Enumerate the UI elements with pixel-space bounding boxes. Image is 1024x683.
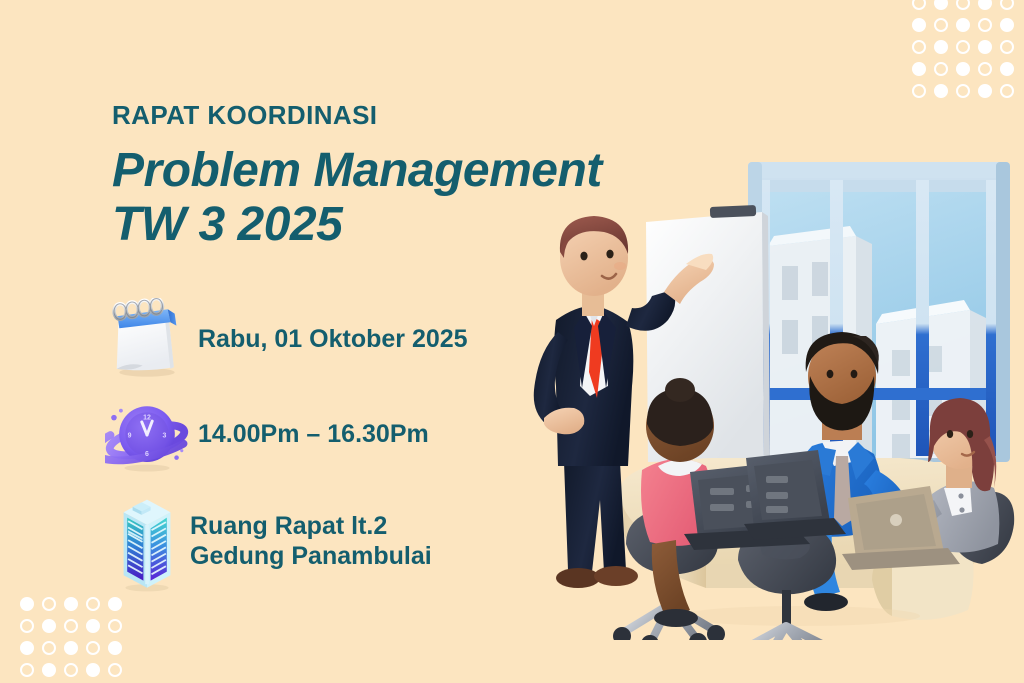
dot — [956, 84, 970, 98]
dot — [934, 18, 948, 32]
dot — [86, 641, 100, 655]
dot — [108, 663, 122, 677]
dot — [912, 84, 926, 98]
dot — [978, 84, 992, 98]
detail-row-date: Rabu, 01 Oktober 2025 — [104, 292, 468, 387]
building-icon — [104, 487, 190, 595]
dot — [956, 40, 970, 54]
dot — [978, 18, 992, 32]
dot — [20, 663, 34, 677]
page-title-line1: Problem Management — [112, 144, 602, 197]
dot — [934, 84, 948, 98]
dot — [978, 40, 992, 54]
svg-text:3: 3 — [162, 432, 166, 439]
dot — [912, 40, 926, 54]
dot — [20, 597, 34, 611]
dot — [42, 597, 56, 611]
decorative-dot-grid-top-right — [908, 0, 1018, 102]
page-title: Problem Management TW 3 2025 — [112, 144, 602, 252]
dot — [934, 40, 948, 54]
svg-text:12: 12 — [143, 414, 151, 421]
detail-text-time: 14.00Pm – 16.30Pm — [198, 419, 429, 450]
calendar-icon — [104, 298, 190, 381]
event-poster: RAPAT KOORDINASI Problem Management TW 3… — [0, 0, 1024, 683]
dot — [42, 641, 56, 655]
dot — [912, 0, 926, 10]
dot — [956, 18, 970, 32]
dot — [64, 597, 78, 611]
dot — [956, 62, 970, 76]
detail-row-time: 12 3 6 9 14.00Pm — [104, 387, 468, 482]
svg-text:9: 9 — [128, 432, 132, 439]
dot — [86, 663, 100, 677]
dot — [956, 0, 970, 10]
dot — [20, 619, 34, 633]
dot — [108, 641, 122, 655]
dot — [64, 663, 78, 677]
dot — [64, 641, 78, 655]
dot — [20, 641, 34, 655]
event-details-list: Rabu, 01 Oktober 2025 — [104, 292, 468, 600]
dot — [42, 663, 56, 677]
dot — [86, 619, 100, 633]
decorative-dot-grid-bottom-left — [16, 593, 126, 681]
detail-row-location: Ruang Rapat lt.2 Gedung Panambulai — [104, 482, 468, 600]
dot — [64, 619, 78, 633]
dot — [1000, 40, 1014, 54]
poster-heading-block: RAPAT KOORDINASI Problem Management TW 3… — [112, 102, 602, 252]
dot — [912, 18, 926, 32]
dot — [42, 619, 56, 633]
detail-text-location: Ruang Rapat lt.2 Gedung Panambulai — [190, 511, 432, 572]
dot — [86, 597, 100, 611]
clock-icon: 12 3 6 9 — [104, 395, 190, 475]
dot — [1000, 0, 1014, 10]
dot — [1000, 84, 1014, 98]
dot — [912, 62, 926, 76]
dot — [1000, 18, 1014, 32]
dot — [978, 0, 992, 10]
dot — [1000, 62, 1014, 76]
detail-text-date: Rabu, 01 Oktober 2025 — [198, 324, 468, 355]
dot — [934, 0, 948, 10]
page-title-line2: TW 3 2025 — [112, 198, 602, 252]
dot — [978, 62, 992, 76]
dot — [108, 619, 122, 633]
poster-kicker: RAPAT KOORDINASI — [112, 102, 602, 128]
dot — [934, 62, 948, 76]
svg-text:6: 6 — [145, 450, 149, 457]
